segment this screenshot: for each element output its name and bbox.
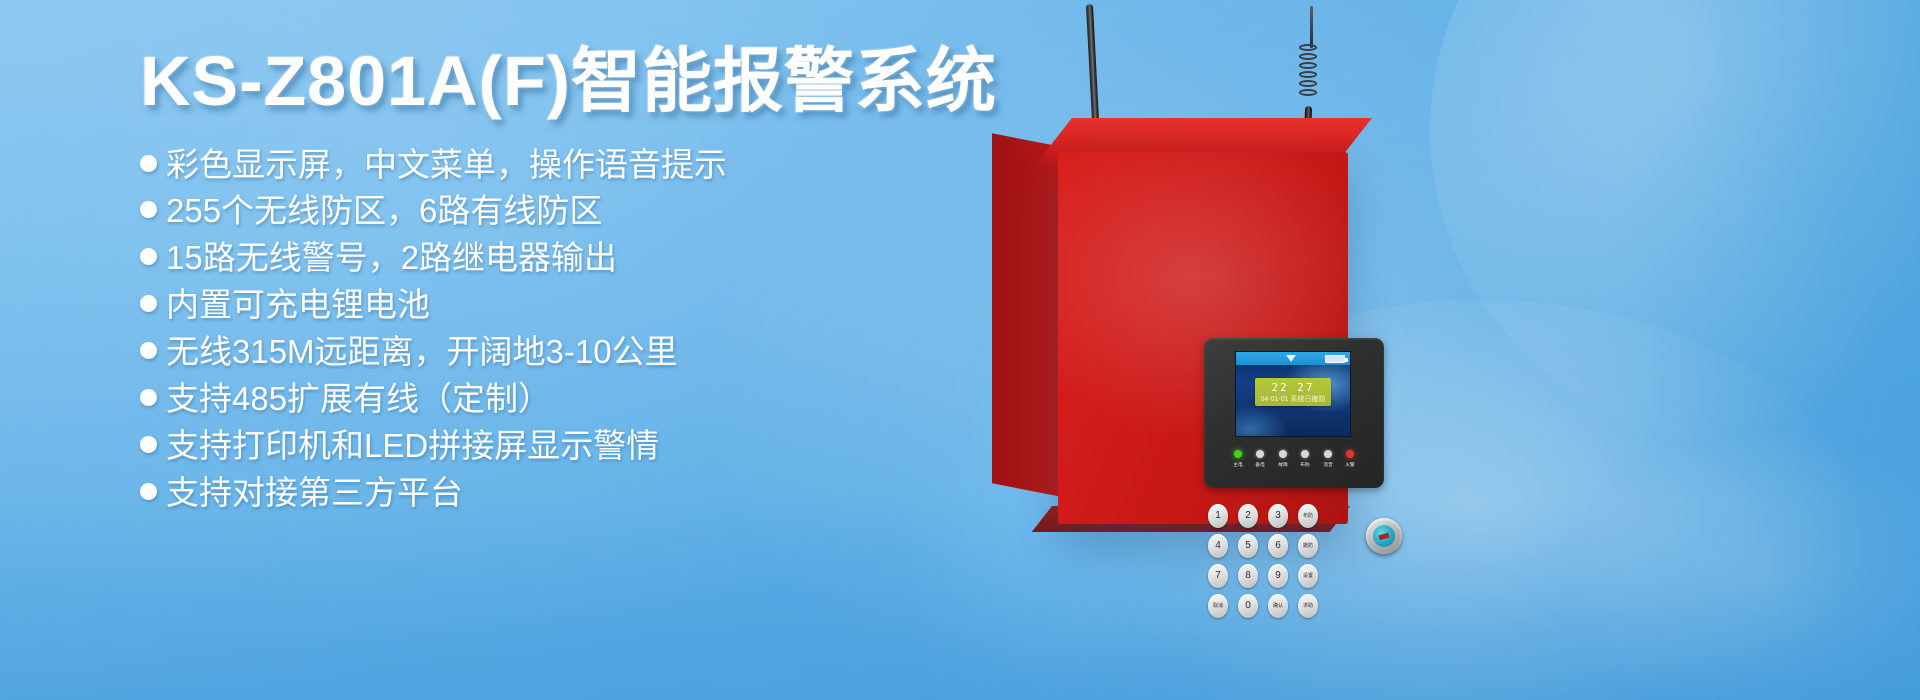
status-led-row: 主电 备电 故障 布防 [1228,450,1360,468]
antenna-right-coil [1299,44,1317,110]
led-indicator-icon [1301,450,1309,458]
status-led: 火警 [1340,450,1360,468]
product-title: KS-Z801A(F)智能报警系统 [140,44,1000,120]
keypad-key[interactable]: 0 [1238,594,1258,618]
keypad-key[interactable]: 确认 [1268,594,1288,618]
keypad-key[interactable]: 3 [1268,504,1288,528]
feature-list: 彩色显示屏，中文菜单，操作语音提示 255个无线防区，6路有线防区 15路无线警… [140,142,1000,517]
bullet-icon [140,201,157,218]
feature-text: 无线315M远距离，开阔地3-10公里 [166,329,678,376]
keypad-key[interactable]: 7 [1208,564,1228,588]
feature-item: 无线315M远距离，开阔地3-10公里 [140,329,1000,376]
status-led: 消音 [1318,450,1338,468]
enclosure-front-panel: 22 27 04-01-01 系统已撤防 主电 备电 [1058,152,1348,524]
keypad-key[interactable]: 布防 [1298,504,1318,528]
keypad-key[interactable]: 设置 [1298,564,1318,588]
alarm-control-panel-device: 22 27 04-01-01 系统已撤防 主电 备电 [940,0,1560,700]
keypad-key[interactable]: 9 [1268,564,1288,588]
keypad-key[interactable]: 2 [1238,504,1258,528]
keypad[interactable]: 1 2 3 布防 4 5 6 撤防 7 8 9 设置 取消 0 确认 求助 [1208,504,1320,618]
bullet-icon [140,342,157,359]
led-indicator-icon [1256,450,1264,458]
led-indicator-icon [1346,450,1354,458]
feature-item: 支持485扩展有线（定制） [140,376,1000,423]
feature-text: 内置可充电锂电池 [166,282,430,329]
feature-item: 15路无线警号，2路继电器输出 [140,235,1000,282]
antenna-right-whip [1310,6,1313,48]
bullet-icon [140,155,157,172]
keypad-key[interactable]: 1 [1208,504,1228,528]
bullet-icon [140,436,157,453]
feature-text: 支持485扩展有线（定制） [166,376,551,423]
led-indicator-icon [1279,450,1287,458]
led-label: 故障 [1278,461,1288,468]
lcd-date-status: 04-01-01 系统已撤防 [1261,396,1326,403]
status-led: 主电 [1228,450,1248,468]
status-led: 布防 [1295,450,1315,468]
keypad-key[interactable]: 取消 [1208,594,1228,618]
bullet-icon [140,483,157,500]
signal-icon [1286,355,1296,362]
keypad-key[interactable]: 5 [1238,534,1258,558]
keypad-key[interactable]: 8 [1238,564,1258,588]
led-label: 火警 [1345,461,1355,468]
lock-core [1373,525,1395,547]
led-indicator-icon [1234,450,1242,458]
feature-text: 支持打印机和LED拼接屏显示警情 [166,423,659,470]
banner-text-column: KS-Z801A(F)智能报警系统 彩色显示屏，中文菜单，操作语音提示 255个… [140,44,1000,516]
feature-text: 支持对接第三方平台 [166,470,463,517]
lcd-status-bar [1236,352,1350,365]
led-label: 消音 [1323,461,1333,468]
feature-text: 彩色显示屏，中文菜单，操作语音提示 [166,142,727,189]
bullet-icon [140,389,157,406]
lcd-time: 22 27 [1271,382,1314,393]
key-lock-icon[interactable] [1366,518,1402,554]
keypad-key[interactable]: 求助 [1298,594,1318,618]
feature-item: 255个无线防区，6路有线防区 [140,188,1000,235]
feature-item: 支持打印机和LED拼接屏显示警情 [140,423,1000,470]
led-label: 布防 [1300,461,1310,468]
bullet-icon [140,248,157,265]
bullet-icon [140,295,157,312]
keypad-key[interactable]: 6 [1268,534,1288,558]
led-indicator-icon [1324,450,1332,458]
keypad-key[interactable]: 4 [1208,534,1228,558]
feature-item: 支持对接第三方平台 [140,470,1000,517]
feature-text: 15路无线警号，2路继电器输出 [166,235,617,282]
feature-item: 内置可充电锂电池 [140,282,1000,329]
product-banner: KS-Z801A(F)智能报警系统 彩色显示屏，中文菜单，操作语音提示 255个… [0,0,1920,700]
lcd-info-panel: 22 27 04-01-01 系统已撤防 [1255,378,1331,406]
status-led: 备电 [1250,450,1270,468]
status-led: 故障 [1273,450,1293,468]
battery-icon [1325,355,1345,363]
keypad-key[interactable]: 撤防 [1298,534,1318,558]
led-label: 主电 [1233,461,1243,468]
lock-keyhole [1379,532,1390,540]
lcd-screen: 22 27 04-01-01 系统已撤防 [1235,351,1351,437]
faceplate: 22 27 04-01-01 系统已撤防 主电 备电 [1204,338,1384,488]
feature-text: 255个无线防区，6路有线防区 [166,188,602,235]
led-label: 备电 [1256,461,1266,468]
feature-item: 彩色显示屏，中文菜单，操作语音提示 [140,142,1000,189]
